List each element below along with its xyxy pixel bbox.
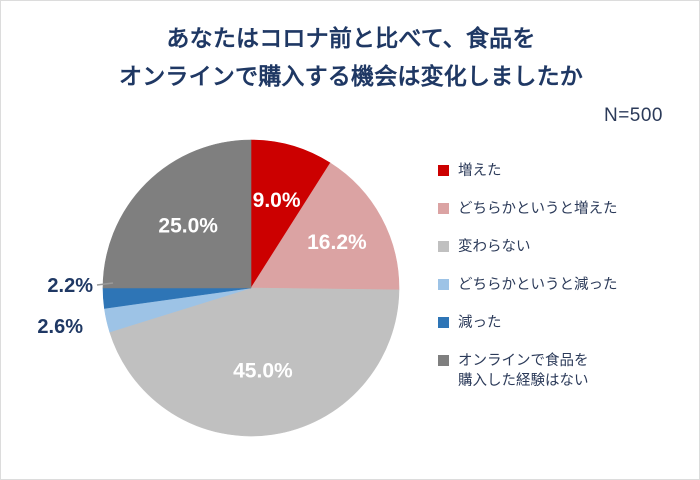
legend-item-no-experience[interactable]: オンラインで食品を購入した経験はない bbox=[438, 351, 688, 391]
legend-swatch-icon bbox=[438, 203, 449, 214]
legend-item-label: オンラインで食品を購入した経験はない bbox=[458, 351, 589, 391]
legend-item-label: どちらかというと増えた bbox=[458, 199, 618, 219]
pie-slice-value-label: 9.0% bbox=[253, 189, 301, 212]
pie-leader-lines bbox=[97, 283, 113, 285]
legend-swatch-icon bbox=[438, 317, 449, 328]
pie-slice[interactable] bbox=[251, 163, 399, 290]
legend: 増えた どちらかというと増えた 変わらない どちらかというと減った 減った オン… bbox=[438, 161, 688, 409]
legend-item-increased[interactable]: 増えた bbox=[438, 161, 688, 181]
chart-title-line-2: オンラインで購入する機会は変化しましたか bbox=[1, 57, 700, 95]
legend-swatch-icon bbox=[438, 241, 449, 252]
pie-slice[interactable] bbox=[104, 288, 251, 332]
pie-slice-labels: 9.0%16.2%45.0%2.6%2.2%25.0% bbox=[37, 189, 367, 382]
legend-swatch-icon bbox=[438, 279, 449, 290]
legend-swatch-icon bbox=[438, 165, 449, 176]
pie-slices bbox=[103, 140, 399, 436]
pie-slice-value-label: 25.0% bbox=[158, 215, 218, 238]
legend-item-decreased[interactable]: 減った bbox=[438, 313, 688, 333]
pie-slice-value-label: 16.2% bbox=[307, 231, 367, 254]
legend-item-label-line-2: 購入した経験はない bbox=[458, 371, 589, 391]
legend-item-somewhat-decreased[interactable]: どちらかというと減った bbox=[438, 275, 688, 295]
sample-size-label: N=500 bbox=[604, 105, 663, 127]
pie-slice[interactable] bbox=[110, 288, 399, 436]
pie-slice[interactable] bbox=[103, 288, 251, 308]
pie-slice[interactable] bbox=[103, 140, 251, 288]
legend-item-label: どちらかというと減った bbox=[458, 275, 618, 295]
legend-item-unchanged[interactable]: 変わらない bbox=[438, 237, 688, 257]
pie-chart-figure: あなたはコロナ前と比べて、食品を オンラインで購入する機会は変化しましたか N=… bbox=[0, 0, 700, 480]
legend-item-label: 増えた bbox=[458, 161, 502, 181]
legend-item-label: 減った bbox=[458, 313, 502, 333]
pie-slice-value-label: 2.6% bbox=[37, 316, 83, 338]
legend-item-label: 変わらない bbox=[458, 237, 531, 257]
pie-slice[interactable] bbox=[251, 140, 330, 288]
pie-slice-value-label: 2.2% bbox=[47, 275, 93, 297]
pie-slice-value-label: 45.0% bbox=[233, 359, 293, 382]
legend-item-somewhat-increased[interactable]: どちらかというと増えた bbox=[438, 199, 688, 219]
chart-title-line-1: あなたはコロナ前と比べて、食品を bbox=[1, 19, 700, 57]
chart-title: あなたはコロナ前と比べて、食品を オンラインで購入する機会は変化しましたか bbox=[1, 19, 700, 95]
leader-line-decreased bbox=[97, 283, 113, 285]
legend-swatch-icon bbox=[438, 355, 449, 366]
legend-item-label-line-1: オンラインで食品を bbox=[458, 353, 589, 369]
